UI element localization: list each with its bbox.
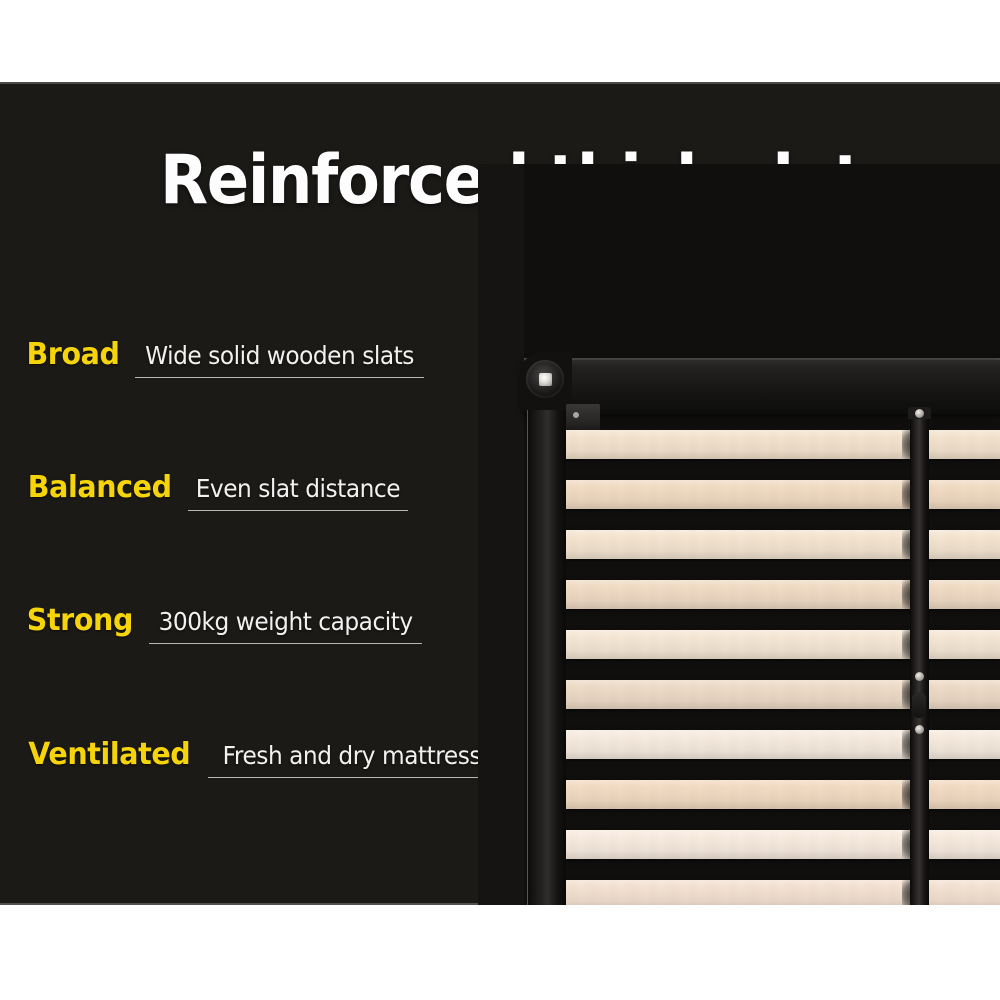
feature-row-strong: Strong 300kg weight capacity <box>24 603 422 644</box>
slat-shading <box>566 430 914 459</box>
wooden-slat <box>925 680 1000 709</box>
support-screw-icon <box>915 672 924 681</box>
slat-shading <box>566 680 914 709</box>
wooden-slat <box>925 630 1000 659</box>
wooden-slat <box>925 730 1000 759</box>
feature-description-underline: Wide solid wooden slats <box>135 341 424 378</box>
side-rail <box>528 374 566 905</box>
slat-shading <box>566 830 914 859</box>
wooden-slat <box>566 480 914 509</box>
center-support-bar <box>910 412 929 905</box>
wooden-slat <box>925 480 1000 509</box>
slat-shading <box>566 730 914 759</box>
slat-shading <box>566 780 914 809</box>
wooden-slat <box>566 630 914 659</box>
dark-content-panel: Reinforced thick slats Broad Wide solid … <box>0 82 1000 905</box>
corner-tab-bolt-icon <box>573 412 579 418</box>
product-feature-image: Reinforced thick slats Broad Wide solid … <box>0 0 1000 1000</box>
wooden-slat <box>925 580 1000 609</box>
wooden-slat <box>566 530 914 559</box>
slat-shading <box>566 880 914 905</box>
wooden-slat <box>566 880 914 905</box>
support-screw-icon <box>915 725 924 734</box>
feature-row-balanced: Balanced Even slat distance <box>24 470 408 511</box>
wooden-slat <box>925 430 1000 459</box>
photo-dark-background <box>478 164 524 905</box>
feature-description-underline: 300kg weight capacity <box>149 607 422 644</box>
wooden-slat <box>925 530 1000 559</box>
slat-shading <box>925 630 1000 659</box>
slat-shading <box>925 880 1000 905</box>
feature-label: Strong <box>27 603 133 638</box>
slat-shading <box>925 480 1000 509</box>
feature-label: Ventilated <box>28 737 190 772</box>
feature-row-broad: Broad Wide solid wooden slats <box>24 337 424 378</box>
feature-description: 300kg weight capacity <box>158 607 412 636</box>
feature-description: Even slat distance <box>196 474 400 503</box>
wooden-slat <box>925 830 1000 859</box>
feature-label: Balanced <box>28 470 172 505</box>
support-screw-icon <box>915 409 924 418</box>
slat-shading <box>566 630 914 659</box>
slat-shading <box>566 480 914 509</box>
slat-shading <box>566 580 914 609</box>
feature-description: Wide solid wooden slats <box>145 341 414 370</box>
product-photo <box>478 164 1000 905</box>
slat-shading <box>925 530 1000 559</box>
slat-shading <box>925 730 1000 759</box>
wooden-slat <box>566 830 914 859</box>
wooden-slat <box>925 780 1000 809</box>
slat-shading <box>566 530 914 559</box>
slat-shading <box>925 680 1000 709</box>
slat-shading <box>925 580 1000 609</box>
wooden-slat <box>566 730 914 759</box>
corner-bolt-icon <box>539 373 552 386</box>
wooden-slat <box>566 430 914 459</box>
wooden-slat <box>566 680 914 709</box>
wooden-slat <box>925 880 1000 905</box>
panel-top-edge <box>0 82 1000 84</box>
wooden-slat <box>566 780 914 809</box>
slat-shading <box>925 430 1000 459</box>
slat-shading <box>925 830 1000 859</box>
support-joint <box>912 692 926 718</box>
feature-description-underline: Even slat distance <box>188 474 408 511</box>
wooden-slat <box>566 580 914 609</box>
feature-label: Broad <box>26 337 119 372</box>
slat-shading <box>925 780 1000 809</box>
